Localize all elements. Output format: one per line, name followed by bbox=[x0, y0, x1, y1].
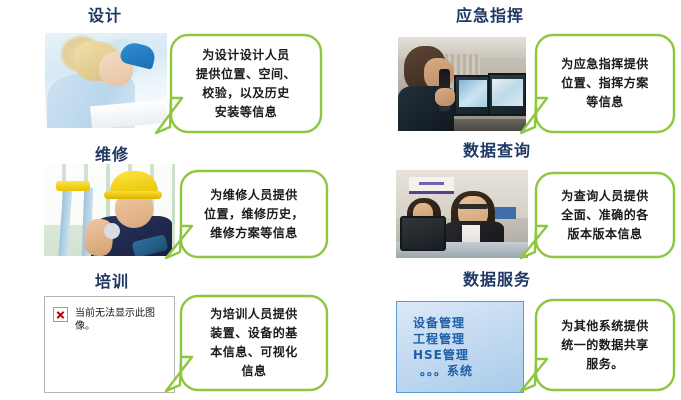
infographic-canvas: 设计 为设计设计人员 提供位置、空间、 校验，以及历史 安装等信息 应急指挥 bbox=[0, 0, 681, 400]
callout-data-service: 为其他系统提供 统一的数据共享 服务。 bbox=[533, 297, 677, 393]
callout-data-service-line-1: 为其他系统提供 bbox=[561, 317, 649, 336]
photo-emergency-hand bbox=[435, 88, 455, 106]
callout-emergency-line-3: 等信息 bbox=[586, 93, 624, 112]
photo-data-query-glasses bbox=[458, 204, 488, 209]
callout-training-line-4: 信息 bbox=[241, 362, 266, 381]
callout-maintenance-line-3: 维修方案等信息 bbox=[210, 224, 298, 243]
callout-design: 为设计设计人员 提供位置、空间、 校验，以及历史 安装等信息 bbox=[168, 32, 324, 135]
photo-emergency bbox=[398, 37, 526, 131]
photo-design-blueprint bbox=[91, 100, 167, 128]
photo-maintenance-ladder-top bbox=[56, 181, 90, 191]
callout-maintenance-text: 为维修人员提供 位置，维修历史， 维修方案等信息 bbox=[178, 168, 330, 260]
callout-data-service-line-2: 统一的数据共享 bbox=[561, 336, 649, 355]
callout-emergency-line-1: 为应急指挥提供 bbox=[561, 55, 649, 74]
callout-maintenance-line-2: 位置，维修历史， bbox=[204, 205, 304, 224]
system-box-line-2: 工程管理 bbox=[413, 331, 523, 347]
callout-data-query-line-3: 版本版本信息 bbox=[567, 225, 642, 244]
callout-emergency-line-2: 位置、指挥方案 bbox=[561, 74, 649, 93]
system-box-line-3: HSE管理 bbox=[413, 347, 523, 363]
photo-data-query bbox=[396, 170, 528, 258]
photo-data-query-sign bbox=[409, 177, 454, 194]
section-title-emergency: 应急指挥 bbox=[425, 6, 555, 26]
callout-design-line-1: 为设计设计人员 bbox=[202, 46, 290, 65]
section-title-maintenance: 维修 bbox=[52, 145, 172, 165]
callout-emergency: 为应急指挥提供 位置、指挥方案 等信息 bbox=[533, 32, 677, 135]
photo-maintenance-helmet-brim bbox=[104, 191, 162, 199]
callout-design-text: 为设计设计人员 提供位置、空间、 校验，以及历史 安装等信息 bbox=[168, 32, 324, 135]
callout-data-query: 为查询人员提供 全面、准确的各 版本版本信息 bbox=[533, 170, 677, 260]
callout-maintenance: 为维修人员提供 位置，维修历史， 维修方案等信息 bbox=[178, 168, 330, 260]
broken-image-message: 当前无法显示此图像。 bbox=[75, 307, 166, 333]
broken-image-training: 当前无法显示此图像。 bbox=[44, 296, 175, 393]
broken-image-inner: 当前无法显示此图像。 bbox=[45, 297, 174, 333]
photo-maintenance bbox=[44, 164, 175, 256]
section-title-data-service: 数据服务 bbox=[432, 270, 562, 290]
callout-data-query-line-2: 全面、准确的各 bbox=[561, 206, 649, 225]
section-title-design: 设计 bbox=[45, 6, 165, 26]
callout-data-service-line-3: 服务。 bbox=[586, 355, 624, 374]
system-box-line-1: 设备管理 bbox=[413, 315, 523, 331]
callout-training-line-2: 装置、设备的基 bbox=[210, 324, 298, 343]
callout-design-line-4: 安装等信息 bbox=[215, 103, 278, 122]
callout-maintenance-line-1: 为维修人员提供 bbox=[210, 186, 298, 205]
callout-training-text: 为培训人员提供 装置、设备的基 本信息、可视化 信息 bbox=[178, 293, 330, 393]
callout-design-line-2: 提供位置、空间、 bbox=[196, 65, 296, 84]
photo-data-query-monitor bbox=[400, 216, 446, 252]
photo-data-query-binder bbox=[495, 207, 516, 219]
callout-training-line-1: 为培训人员提供 bbox=[210, 305, 298, 324]
callout-training-line-3: 本信息、可视化 bbox=[210, 343, 298, 362]
system-box-data-service: 设备管理 工程管理 HSE管理 。。。系统 bbox=[396, 301, 524, 393]
callout-training: 为培训人员提供 装置、设备的基 本信息、可视化 信息 bbox=[178, 293, 330, 393]
section-title-training: 培训 bbox=[52, 272, 172, 292]
photo-design bbox=[45, 33, 167, 128]
section-title-data-query: 数据查询 bbox=[432, 141, 562, 161]
callout-emergency-text: 为应急指挥提供 位置、指挥方案 等信息 bbox=[533, 32, 677, 135]
system-box-line-4: 。。。系统 bbox=[413, 363, 523, 379]
broken-image-icon bbox=[53, 307, 68, 322]
callout-design-line-3: 校验，以及历史 bbox=[202, 84, 290, 103]
callout-data-service-text: 为其他系统提供 统一的数据共享 服务。 bbox=[533, 297, 677, 393]
callout-data-query-line-1: 为查询人员提供 bbox=[561, 187, 649, 206]
photo-emergency-monitor-1 bbox=[454, 75, 491, 117]
photo-emergency-monitor-2 bbox=[488, 73, 526, 116]
callout-data-query-text: 为查询人员提供 全面、准确的各 版本版本信息 bbox=[533, 170, 677, 260]
